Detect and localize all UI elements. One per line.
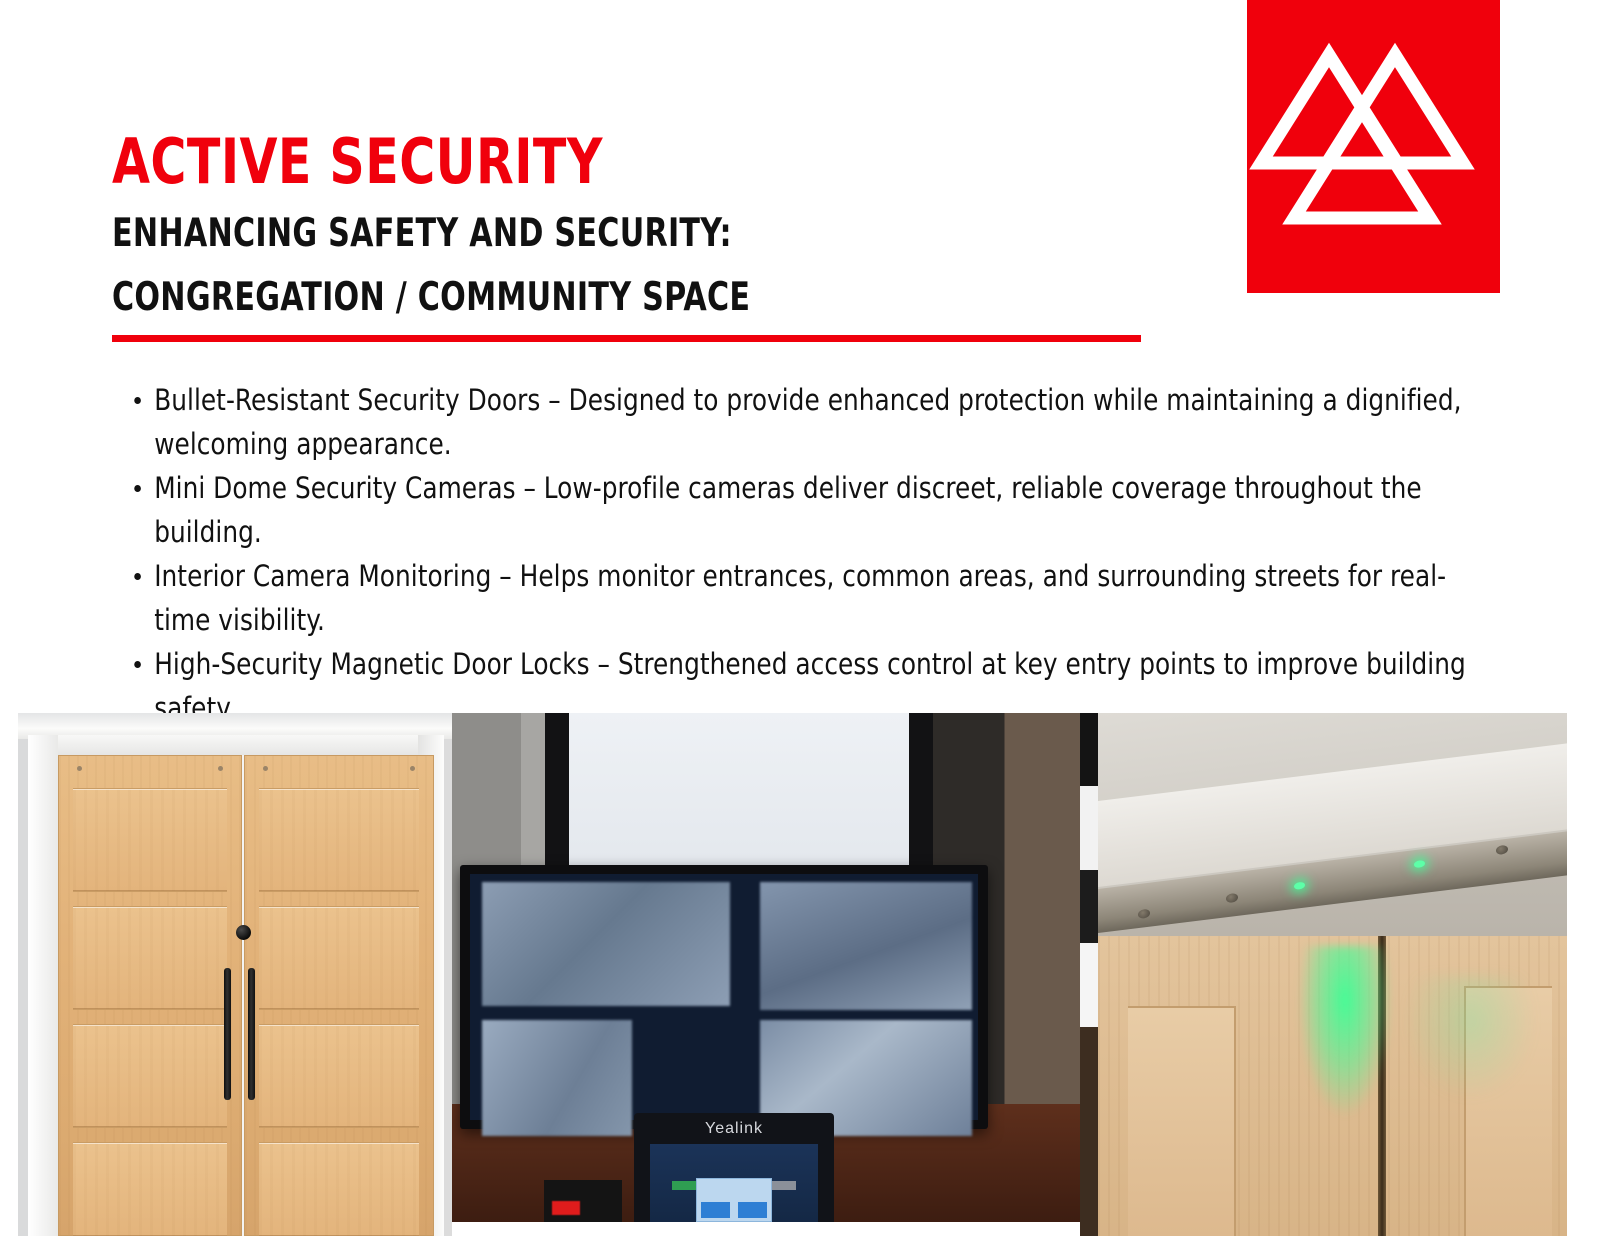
camera-feed [482,882,730,1006]
camera-feed [760,882,972,1010]
list-item: Bullet-Resistant Security Doors – Design… [120,378,1469,466]
title-block: ACTIVE SECURITY ENHANCING SAFETY AND SEC… [112,128,1172,324]
title-divider [112,335,1141,342]
panel-dialog-text [697,1186,771,1195]
camera-monitoring-screen: Yealink [452,713,1080,1222]
magnetic-door-lock-green-led [1080,713,1567,1236]
slide: ACTIVE SECURITY ENHANCING SAFETY AND SEC… [0,0,1600,1236]
yealink-brand-label: Yealink [634,1120,834,1138]
triangles-logo [1247,0,1500,293]
desk-device [544,1180,622,1222]
list-item: Mini Dome Security Cameras – Low-profile… [120,466,1469,554]
photo-strip: Yealink [0,713,1600,1236]
feature-list: Bullet-Resistant Security Doors – Design… [120,378,1540,730]
status-led-green [1414,860,1425,868]
door-lock-icon [236,925,251,940]
camera-feed [482,1020,632,1136]
monitor [460,865,988,1129]
yealink-touch-panel: Yealink [634,1113,834,1222]
door-handle [224,968,231,1100]
page-title: ACTIVE SECURITY [112,128,1045,196]
subtitle-line-2: CONGREGATION / COMMUNITY SPACE [112,272,1024,324]
green-led-glow [1380,976,1560,1196]
bullet-resistant-wooden-double-doors [18,713,452,1236]
subtitle-line-1: ENHANCING SAFETY AND SECURITY: [112,208,1024,260]
status-led-green [1294,882,1305,890]
list-item: Interior Camera Monitoring – Helps monit… [120,554,1469,642]
door-handle [248,968,255,1100]
